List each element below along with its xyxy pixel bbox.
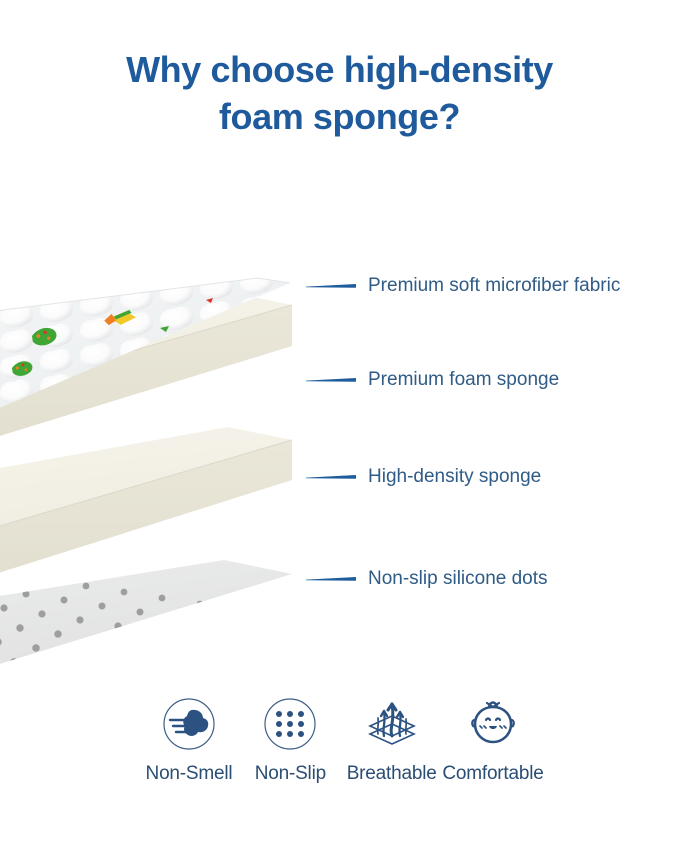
baby-face-icon	[465, 696, 521, 752]
airflow-layers-icon	[364, 696, 420, 752]
feature-non-slip: Non-Slip	[240, 696, 340, 786]
callout-label: Premium soft microfiber fabric	[358, 272, 620, 300]
callout-premium-soft-microfiber-fabric: Premium soft microfiber fabric	[306, 272, 620, 300]
leader-line-icon	[306, 473, 358, 481]
callout-high-density-sponge: High-density sponge	[306, 463, 541, 491]
product-infographic: Why choose high-density foam sponge?	[0, 0, 679, 849]
leader-line-icon	[306, 376, 358, 384]
feature-label: Breathable	[347, 762, 437, 786]
leader-line-icon	[306, 575, 358, 583]
silicone-layer-shape	[0, 560, 292, 710]
callout-non-slip-silicone-dots: Non-slip silicone dots	[306, 565, 548, 593]
exploded-layers-diagram	[0, 150, 360, 710]
callout-label: Premium foam sponge	[358, 366, 559, 394]
title-line-1: Why choose high-density	[0, 46, 679, 93]
callout-label: Non-slip silicone dots	[358, 565, 548, 593]
feature-breathable: Breathable	[342, 696, 442, 786]
callout-label: High-density sponge	[358, 463, 541, 491]
feature-comfortable: Comfortable	[443, 696, 543, 786]
feature-label: Non-Slip	[255, 762, 326, 786]
title-line-2: foam sponge?	[0, 93, 679, 140]
leader-line-icon	[306, 282, 358, 290]
page-title: Why choose high-density foam sponge?	[0, 46, 679, 140]
feature-list: Non-Smell Non-Slip	[139, 696, 543, 806]
feature-label: Non-Smell	[146, 762, 233, 786]
dot-grid-icon	[262, 696, 318, 752]
callout-premium-foam-sponge: Premium foam sponge	[306, 366, 559, 394]
feature-non-smell: Non-Smell	[139, 696, 239, 786]
feature-label: Comfortable	[442, 762, 543, 786]
odor-free-puff-icon	[161, 696, 217, 752]
